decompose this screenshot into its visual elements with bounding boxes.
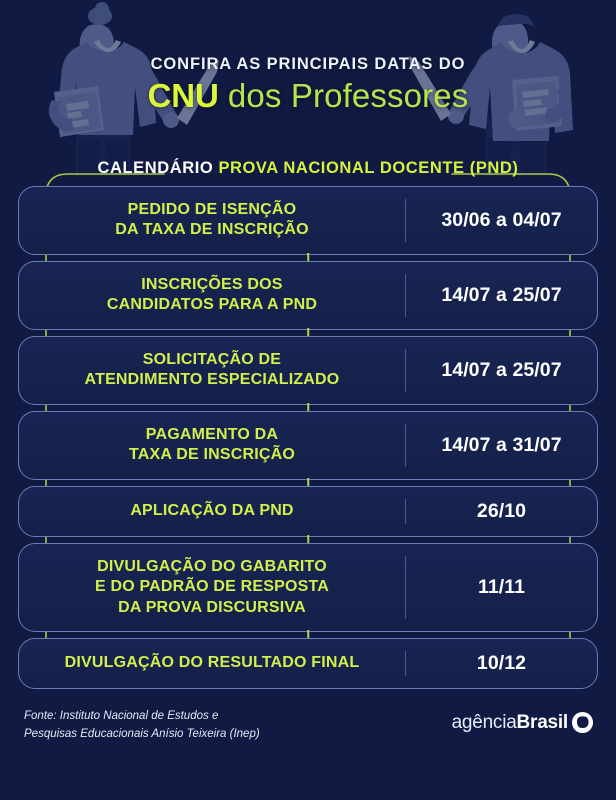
table-row: SOLICITAÇÃO DE ATENDIMENTO ESPECIALIZADO… xyxy=(18,336,598,405)
row-date-cell: 10/12 xyxy=(406,639,597,688)
table-row: INSCRIÇÕES DOS CANDIDATOS PARA A PND14/0… xyxy=(18,261,598,330)
row-column-divider xyxy=(405,499,406,524)
row-date-cell: 14/07 a 31/07 xyxy=(406,412,597,479)
footer: Fonte: Instituto Nacional de Estudos e P… xyxy=(0,707,616,755)
row-label-cell: SOLICITAÇÃO DE ATENDIMENTO ESPECIALIZADO xyxy=(19,337,405,404)
row-label-text: APLICAÇÃO DA PND xyxy=(130,501,293,521)
row-date-cell: 30/06 a 04/07 xyxy=(406,187,597,254)
row-column-divider xyxy=(405,651,406,676)
row-column-divider xyxy=(405,424,406,467)
row-label-cell: PEDIDO DE ISENÇÃO DA TAXA DE INSCRIÇÃO xyxy=(19,187,405,254)
agencia-brasil-logo[interactable]: agência Brasil xyxy=(452,711,594,734)
row-date-cell: 14/07 a 25/07 xyxy=(406,337,597,404)
brand-word-brasil: Brasil xyxy=(517,713,568,732)
source-credit: Fonte: Instituto Nacional de Estudos e P… xyxy=(24,707,260,744)
table-row: DIVULGAÇÃO DO GABARITO E DO PADRÃO DE RE… xyxy=(18,543,598,632)
row-date-text: 14/07 a 25/07 xyxy=(441,359,561,382)
row-column-divider xyxy=(405,199,406,242)
table-row: APLICAÇÃO DA PND26/10 xyxy=(18,486,598,537)
row-label-text: DIVULGAÇÃO DO RESULTADO FINAL xyxy=(65,653,360,673)
row-label-text: PAGAMENTO DA TAXA DE INSCRIÇÃO xyxy=(129,425,295,466)
row-label-cell: DIVULGAÇÃO DO GABARITO E DO PADRÃO DE RE… xyxy=(19,544,405,631)
row-label-text: PEDIDO DE ISENÇÃO DA TAXA DE INSCRIÇÃO xyxy=(115,200,308,241)
title-subject: dos Professores xyxy=(219,77,469,114)
brand-circle-icon xyxy=(571,711,594,734)
table-row: PAGAMENTO DA TAXA DE INSCRIÇÃO14/07 a 31… xyxy=(18,411,598,480)
row-column-divider xyxy=(405,349,406,392)
brand-word-agencia: agência xyxy=(452,713,517,732)
row-column-divider xyxy=(405,274,406,317)
row-label-cell: INSCRIÇÕES DOS CANDIDATOS PARA A PND xyxy=(19,262,405,329)
row-label-cell: DIVULGAÇÃO DO RESULTADO FINAL xyxy=(19,639,405,688)
row-date-cell: 26/10 xyxy=(406,487,597,536)
caption-pnd: PROVA NACIONAL DOCENTE (PND) xyxy=(218,159,518,177)
header-kicker: CONFIRA AS PRINCIPAIS DATAS DO xyxy=(0,56,616,73)
row-label-text: INSCRIÇÕES DOS CANDIDATOS PARA A PND xyxy=(107,275,317,316)
row-label-text: SOLICITAÇÃO DE ATENDIMENTO ESPECIALIZADO xyxy=(85,350,340,391)
header-block: CONFIRA AS PRINCIPAIS DATAS DO CNU dos P… xyxy=(0,56,616,112)
calendar-caption: CALENDÁRIO PROVA NACIONAL DOCENTE (PND) xyxy=(0,160,616,177)
row-label-text: DIVULGAÇÃO DO GABARITO E DO PADRÃO DE RE… xyxy=(95,557,329,618)
row-date-text: 26/10 xyxy=(477,500,526,523)
row-date-cell: 11/11 xyxy=(406,544,597,631)
row-date-text: 10/12 xyxy=(477,652,526,675)
row-date-text: 14/07 a 31/07 xyxy=(441,434,561,457)
calendar-table: PEDIDO DE ISENÇÃO DA TAXA DE INSCRIÇÃO30… xyxy=(18,186,598,689)
caption-calendario: CALENDÁRIO xyxy=(98,159,219,177)
row-column-divider xyxy=(405,556,406,619)
title-cnu: CNU xyxy=(148,77,219,114)
table-row: DIVULGAÇÃO DO RESULTADO FINAL10/12 xyxy=(18,638,598,689)
infographic-canvas: CONFIRA AS PRINCIPAIS DATAS DO CNU dos P… xyxy=(0,0,616,800)
table-row: PEDIDO DE ISENÇÃO DA TAXA DE INSCRIÇÃO30… xyxy=(18,186,598,255)
row-date-text: 11/11 xyxy=(478,576,525,599)
row-label-cell: PAGAMENTO DA TAXA DE INSCRIÇÃO xyxy=(19,412,405,479)
row-date-cell: 14/07 a 25/07 xyxy=(406,262,597,329)
row-date-text: 30/06 a 04/07 xyxy=(441,209,561,232)
page-title: CNU dos Professores xyxy=(0,79,616,113)
row-label-cell: APLICAÇÃO DA PND xyxy=(19,487,405,536)
row-date-text: 14/07 a 25/07 xyxy=(441,284,561,307)
